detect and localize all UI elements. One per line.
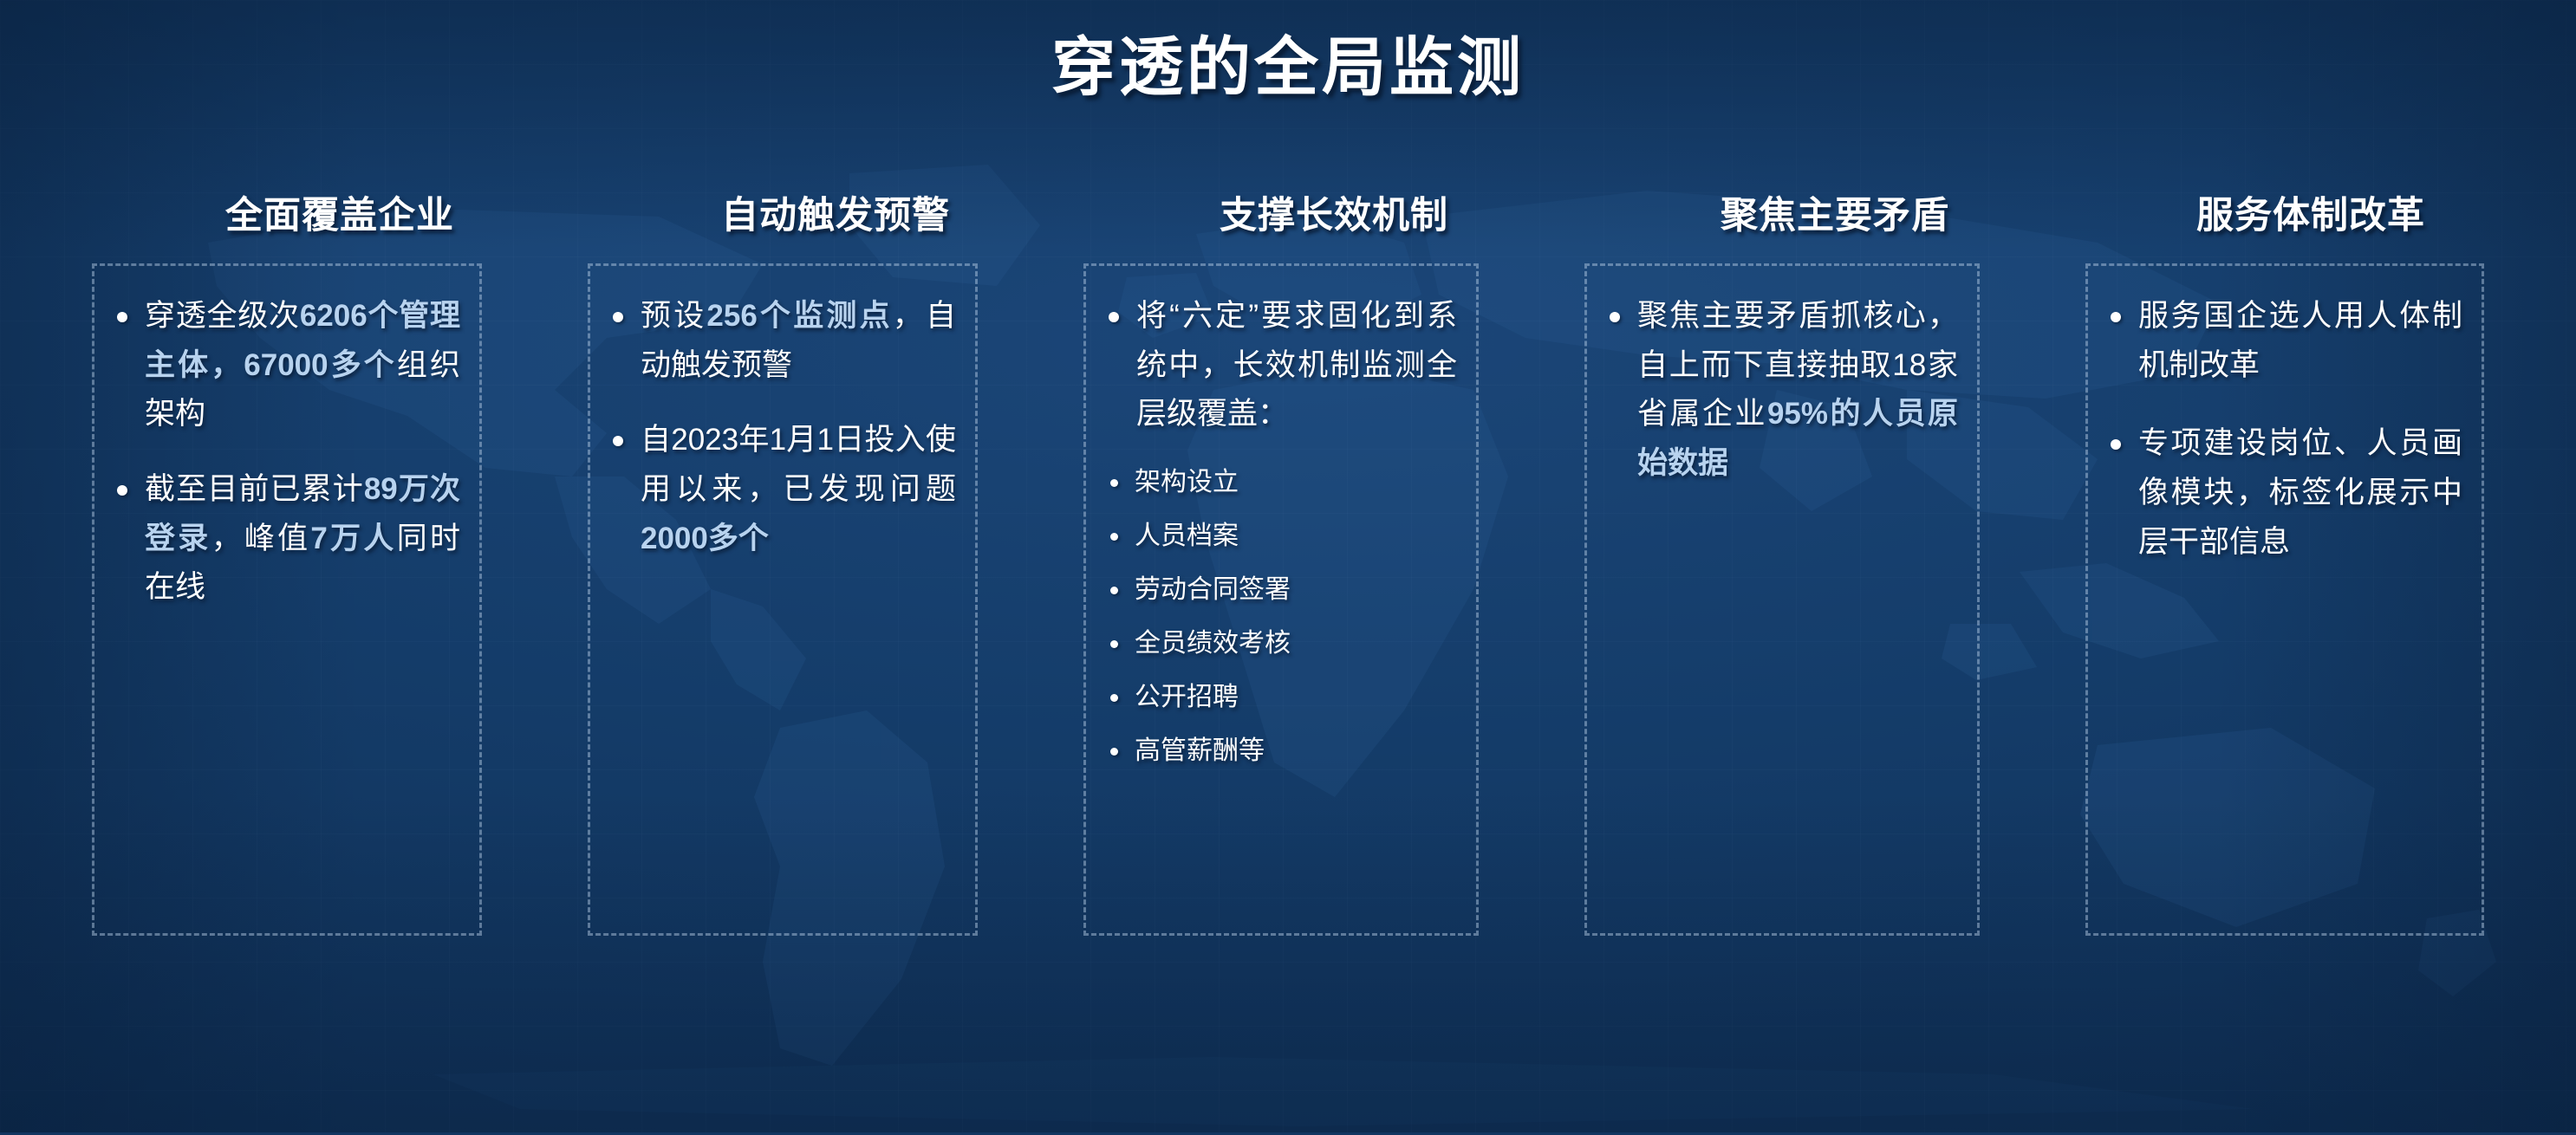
list-item: 公开招聘 (1098, 680, 1457, 714)
bullet-segment: 截至目前已累计 (145, 472, 364, 506)
sub-bullet-label: 公开招聘 (1135, 683, 1239, 711)
bullet-segment: 自2023年1月1日投入使用以来，已发现问题 (641, 423, 956, 506)
bullet-segment: 预设 (641, 299, 706, 333)
feature-column-4: 聚焦主要矛盾 聚焦主要矛盾抓核心，自上而下直接抽取18家省属企业95%的人员原始… (1584, 185, 2085, 1052)
list-item: 将“六定”要求固化到系统中，长效机制监测全层级覆盖： (1098, 292, 1457, 439)
bullet-list-5: 服务国企选人用人体制机制改革 专项建设岗位、人员画像模块，标签化展示中层干部信息 (2100, 292, 2462, 567)
list-item: 服务国企选人用人体制机制改革 (2100, 292, 2462, 390)
sub-bullet-label: 架构设立 (1135, 468, 1239, 496)
sub-bullet-label: 劳动合同签署 (1135, 575, 1291, 604)
bullet-segment: 穿透全级次 (145, 299, 300, 333)
feature-column-1: 全面覆盖企业 穿透全级次6206个管理主体，67000多个组织架构 截至目前已累… (92, 185, 588, 1052)
list-item: 预设256个监测点，自动触发预警 (602, 292, 956, 390)
bullet-segment: 服务国企选人用人体制机制改革 (2138, 299, 2462, 382)
list-item: 自2023年1月1日投入使用以来，已发现问题2000多个 (602, 416, 956, 563)
list-item: 高管薪酬等 (1098, 734, 1457, 768)
column-title-5: 服务体制改革 (2085, 185, 2536, 239)
feature-columns: 全面覆盖企业 穿透全级次6206个管理主体，67000多个组织架构 截至目前已累… (0, 185, 2576, 1052)
column-title-2: 自动触发预警 (588, 185, 1083, 239)
column-title-4: 聚焦主要矛盾 (1584, 185, 2085, 239)
list-item: 劳动合同签署 (1098, 573, 1457, 606)
page-title: 穿透的全局监测 (0, 16, 2576, 108)
bullet-segment: 专项建设岗位、人员画像模块，标签化展示中层干部信息 (2138, 426, 2462, 558)
bullet-segment-highlight: 7万人 (310, 522, 396, 555)
list-item: 架构设立 (1098, 465, 1457, 499)
bullet-list-1: 穿透全级次6206个管理主体，67000多个组织架构 截至目前已累计89万次登录… (107, 292, 460, 613)
bullet-list-4: 聚焦主要矛盾抓核心，自上而下直接抽取18家省属企业95%的人员原始数据 (1599, 292, 1958, 489)
column-box-1: 穿透全级次6206个管理主体，67000多个组织架构 截至目前已累计89万次登录… (92, 263, 482, 936)
feature-column-2: 自动触发预警 预设256个监测点，自动触发预警 自2023年1月1日投入使用以来… (588, 185, 1083, 1052)
sub-bullet-label: 人员档案 (1135, 522, 1239, 550)
bullet-segment: ，峰值 (211, 522, 311, 555)
bullet-segment: 将“六定”要求固化到系统中，长效机制监测全层级覆盖： (1136, 299, 1457, 431)
sub-bullet-label: 高管薪酬等 (1135, 736, 1265, 765)
sub-bullet-label: 全员绩效考核 (1135, 629, 1291, 658)
bullet-list-2: 预设256个监测点，自动触发预警 自2023年1月1日投入使用以来，已发现问题2… (602, 292, 956, 563)
feature-column-5: 服务体制改革 服务国企选人用人体制机制改革 专项建设岗位、人员画像模块，标签化展… (2085, 185, 2536, 1052)
bullet-segment-highlight: 256个监测点 (706, 299, 892, 333)
column-box-5: 服务国企选人用人体制机制改革 专项建设岗位、人员画像模块，标签化展示中层干部信息 (2085, 263, 2484, 936)
column-box-4: 聚焦主要矛盾抓核心，自上而下直接抽取18家省属企业95%的人员原始数据 (1584, 263, 1980, 936)
list-item: 穿透全级次6206个管理主体，67000多个组织架构 (107, 292, 460, 439)
list-item: 人员档案 (1098, 519, 1457, 553)
column-box-3: 将“六定”要求固化到系统中，长效机制监测全层级覆盖： 架构设立 人员档案 劳动合… (1083, 263, 1479, 936)
feature-column-3: 支撑长效机制 将“六定”要求固化到系统中，长效机制监测全层级覆盖： 架构设立 人… (1083, 185, 1584, 1052)
list-item: 聚焦主要矛盾抓核心，自上而下直接抽取18家省属企业95%的人员原始数据 (1599, 292, 1958, 489)
list-item: 全员绩效考核 (1098, 626, 1457, 660)
bullet-list-3: 将“六定”要求固化到系统中，长效机制监测全层级覆盖： (1098, 292, 1457, 439)
list-item: 截至目前已累计89万次登录，峰值7万人同时在线 (107, 465, 460, 613)
column-box-2: 预设256个监测点，自动触发预警 自2023年1月1日投入使用以来，已发现问题2… (588, 263, 978, 936)
list-item: 专项建设岗位、人员画像模块，标签化展示中层干部信息 (2100, 419, 2462, 567)
sub-bullet-list-3: 架构设立 人员档案 劳动合同签署 全员绩效考核 公开招聘 高管薪酬等 (1098, 465, 1457, 768)
bullet-segment-highlight: 2000多个 (641, 522, 769, 555)
column-title-3: 支撑长效机制 (1083, 185, 1584, 239)
column-title-1: 全面覆盖企业 (92, 185, 588, 239)
